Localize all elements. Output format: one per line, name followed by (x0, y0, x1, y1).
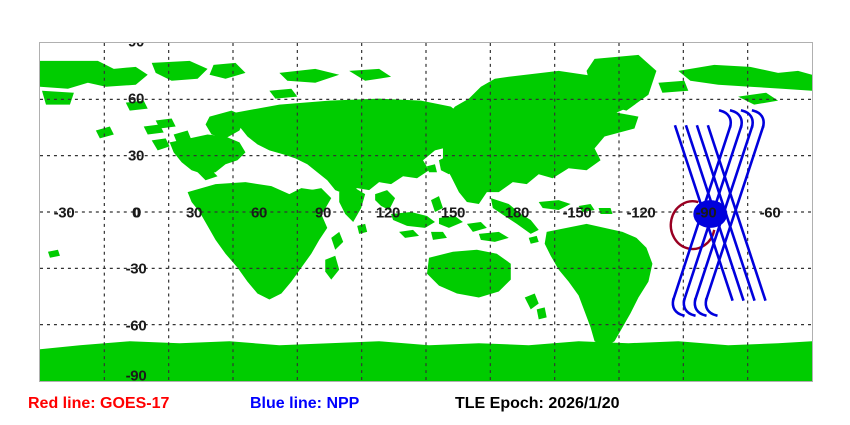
lon-label-180: 180 (505, 206, 529, 221)
lon-label-m150: -150 (563, 206, 592, 221)
lat-label-m90: -90 (126, 369, 147, 383)
lon-label-m30: -30 (54, 206, 75, 221)
lon-label-30: 30 (186, 206, 202, 221)
world-map-plot: 90 60 30 0 -30 -60 -90 -30 0 30 60 90 12… (39, 42, 813, 382)
lat-label-30: 30 (128, 149, 144, 164)
lon-label-0: 0 (133, 206, 141, 221)
lat-label-m60: -60 (126, 319, 147, 334)
lon-label-90: 90 (315, 206, 331, 221)
lon-label-120: 120 (376, 206, 400, 221)
legend-tle-epoch: TLE Epoch: 2026/1/20 (455, 392, 620, 416)
lon-label-60: 60 (251, 206, 267, 221)
legend-red-line: Red line: GOES-17 (28, 392, 169, 416)
legend-blue-line: Blue line: NPP (250, 392, 359, 416)
lon-label-150: 150 (441, 206, 465, 221)
lat-label-60: 60 (128, 92, 144, 107)
legend-caption: Red line: GOES-17 Blue line: NPP TLE Epo… (0, 392, 850, 422)
lat-label-90: 90 (128, 42, 144, 50)
lon-label-m90: -90 (696, 206, 717, 221)
screenshot-root: 90 60 30 0 -30 -60 -90 -30 0 30 60 90 12… (0, 0, 850, 425)
lon-label-m120: -120 (627, 206, 656, 221)
lon-label-m60: -60 (760, 206, 781, 221)
lat-label-m30: -30 (126, 262, 147, 277)
